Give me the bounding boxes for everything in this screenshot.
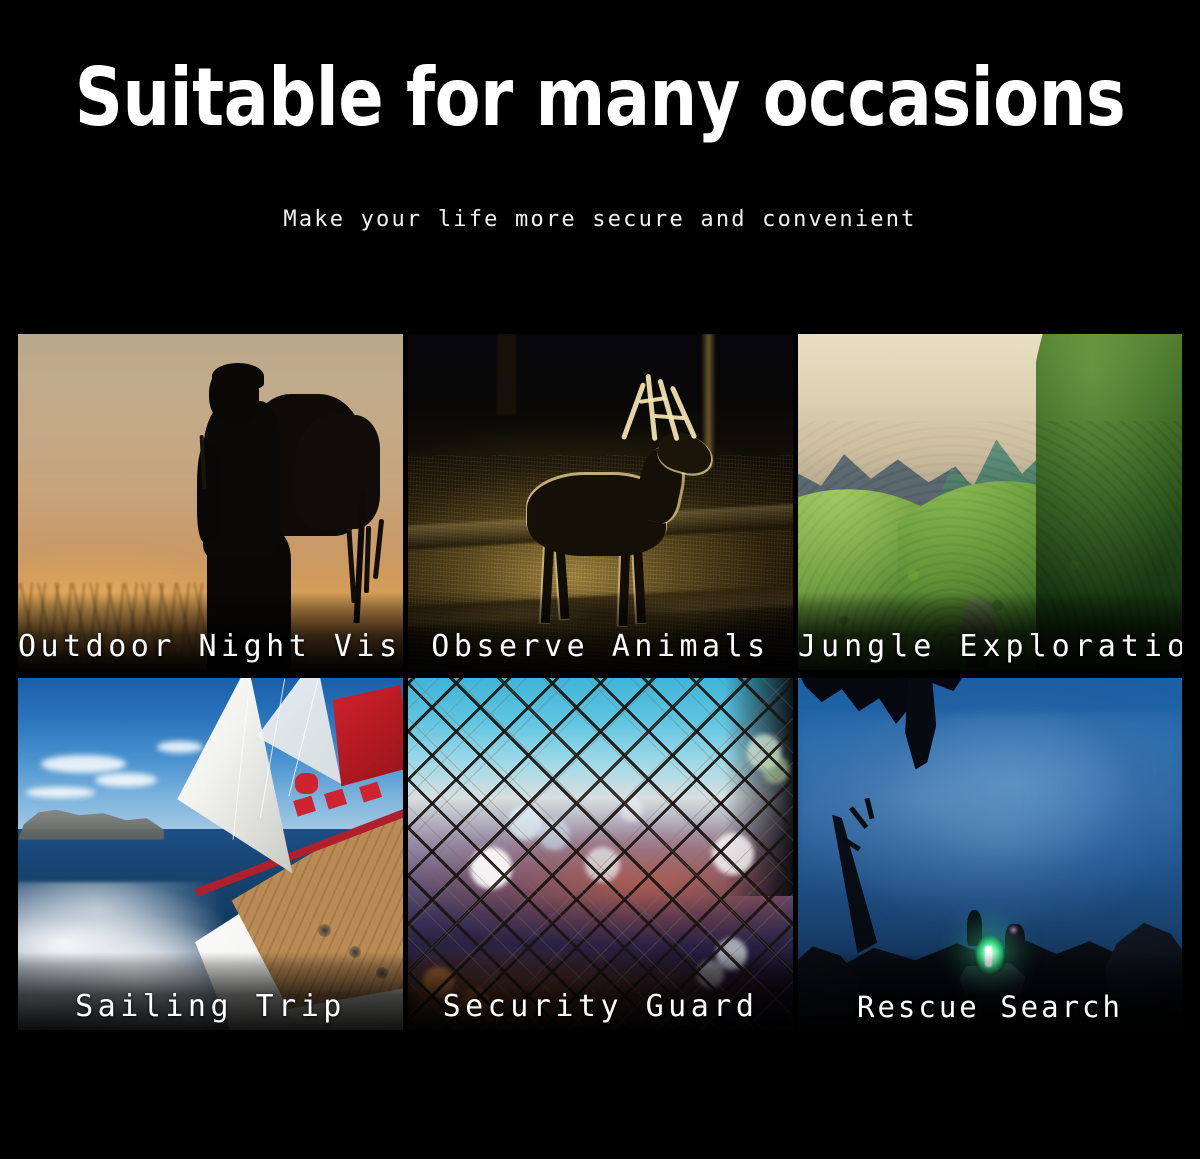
tile-caption: Rescue Search — [798, 990, 1182, 1024]
tile-caption: Observe Animals — [408, 629, 793, 664]
outdoor-night-vision-image — [18, 334, 403, 670]
gallery-tile-security-guard[interactable]: Security Guard — [408, 678, 793, 1030]
page-title: Suitable for many occasions — [42, 52, 1158, 144]
jungle-exploration-image — [798, 334, 1182, 670]
promo-banner: Suitable for many occasions Make your li… — [0, 0, 1200, 1159]
gallery-tile-outdoor-night-vision[interactable]: Outdoor Night Vision — [18, 334, 403, 670]
gallery-tile-sailing-trip[interactable]: Sailing Trip — [18, 678, 403, 1030]
gallery-tile-jungle-exploration[interactable]: Jungle Exploration — [798, 334, 1182, 670]
rescue-search-image — [798, 678, 1182, 1030]
tile-caption: Outdoor Night Vision — [18, 629, 403, 664]
security-guard-image — [408, 678, 793, 1030]
tile-caption: Jungle Exploration — [798, 629, 1182, 664]
occasions-gallery: Outdoor Night Vision O — [18, 334, 1182, 1030]
gallery-tile-rescue-search[interactable]: Rescue Search — [798, 678, 1182, 1030]
gallery-tile-observe-animals[interactable]: Observe Animals — [408, 334, 793, 670]
sailing-trip-image — [18, 678, 403, 1030]
observe-animals-image — [408, 334, 793, 670]
page-subtitle: Make your life more secure and convenien… — [0, 207, 1200, 232]
tile-caption: Sailing Trip — [18, 989, 403, 1024]
tile-caption: Security Guard — [408, 989, 793, 1024]
